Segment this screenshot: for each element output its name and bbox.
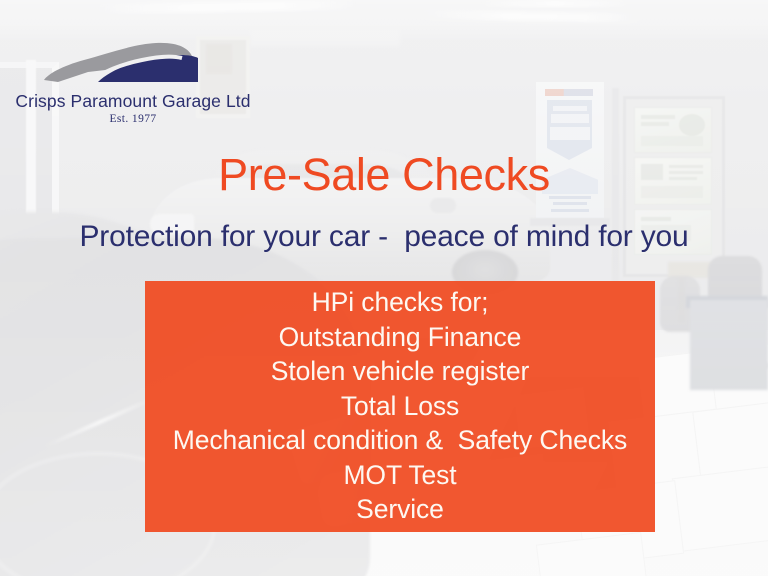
presentation-slide: Crisps Paramount Garage Ltd Est. 1977 Pr…	[0, 0, 768, 576]
list-item: Stolen vehicle register	[145, 354, 655, 389]
list-item: Total Loss	[145, 389, 655, 424]
top-rated-dealer-badge	[547, 100, 592, 148]
established-year: Est. 1977	[8, 113, 258, 125]
list-item: Outstanding Finance	[145, 320, 655, 355]
checks-panel: HPi checks for; Outstanding Finance Stol…	[145, 281, 655, 532]
banner-text-line	[551, 209, 589, 212]
banner-text-line	[553, 202, 587, 205]
cargurus-logo-icon	[545, 89, 593, 96]
ceiling-light-icon	[480, 0, 630, 7]
wall-panel	[250, 30, 400, 46]
list-item: MOT Test	[145, 458, 655, 493]
slide-subtitle: Protection for your car - peace of mind …	[0, 222, 768, 252]
poster	[634, 107, 712, 153]
list-item: HPi checks for;	[145, 285, 655, 320]
silver-car-mirror	[430, 198, 456, 213]
checks-list: HPi checks for; Outstanding Finance Stol…	[145, 281, 655, 527]
wall-shadow-right	[690, 300, 768, 390]
list-item: Service	[145, 492, 655, 527]
list-item: Mechanical condition & Safety Checks	[145, 423, 655, 458]
car-silhouette-logo-icon	[38, 36, 228, 90]
company-logo: Crisps Paramount Garage Ltd Est. 1977	[8, 36, 258, 125]
slide-title: Pre-Sale Checks	[0, 152, 768, 197]
company-name: Crisps Paramount Garage Ltd	[8, 92, 258, 110]
